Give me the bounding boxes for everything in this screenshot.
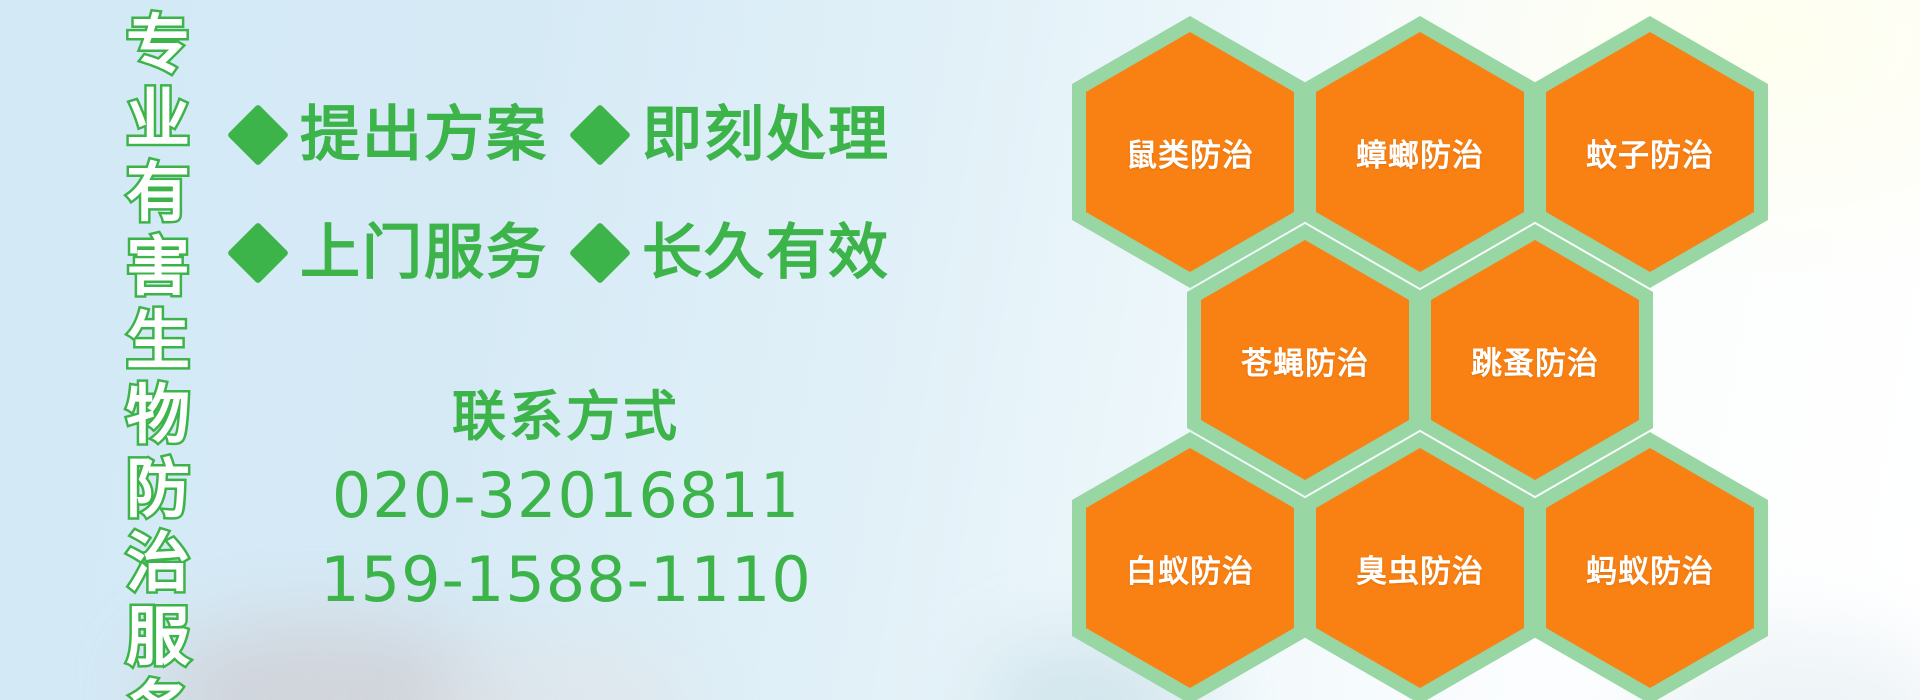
service-hex-face: 蚂蚁防治 <box>1546 448 1754 688</box>
feature-item-label: 即刻处理 <box>642 76 890 194</box>
service-hex-label: 蚂蚁防治 <box>1586 546 1714 591</box>
service-hex-label: 蚊子防治 <box>1586 130 1714 175</box>
service-hex-face: 白蚁防治 <box>1086 448 1294 688</box>
vertical-headline-char: 务 <box>126 674 190 700</box>
service-hex-label: 蟑螂防治 <box>1356 130 1484 175</box>
vertical-headline-char: 专 <box>126 8 190 82</box>
vertical-headline-char: 业 <box>126 82 190 156</box>
service-hex-face: 蟑螂防治 <box>1316 32 1524 272</box>
diamond-icon <box>227 104 289 166</box>
service-hex-label: 苍蝇防治 <box>1241 338 1369 383</box>
feature-item-label: 长久有效 <box>642 194 890 312</box>
vertical-headline-char: 物 <box>126 378 190 452</box>
service-hex-face: 苍蝇防治 <box>1201 240 1409 480</box>
service-hex-label: 臭虫防治 <box>1356 546 1484 591</box>
vertical-headline-char: 防 <box>126 452 190 526</box>
service-hex-grid: 鼠类防治 蟑螂防治 蚊子防治 苍蝇防治 跳蚤防治 白蚁防治 <box>1060 0 1920 700</box>
service-hex-face: 鼠类防治 <box>1086 32 1294 272</box>
service-hex-face: 蚊子防治 <box>1546 32 1754 272</box>
diamond-icon <box>227 222 289 284</box>
service-hex-face: 跳蚤防治 <box>1431 240 1639 480</box>
diamond-icon <box>569 222 631 284</box>
service-hex-label: 跳蚤防治 <box>1471 338 1599 383</box>
vertical-headline: 专 业 有 害 生 物 防 治 服 务 <box>110 8 206 692</box>
feature-row: 上门服务 长久有效 <box>236 194 876 312</box>
contact-phone-mobile[interactable]: 159-1588-1110 <box>236 538 896 622</box>
feature-item-label: 提出方案 <box>300 76 548 194</box>
vertical-headline-char: 生 <box>126 304 190 378</box>
vertical-headline-char: 服 <box>126 600 190 674</box>
service-hex-face: 臭虫防治 <box>1316 448 1524 688</box>
feature-list: 提出方案 即刻处理 上门服务 长久有效 <box>236 76 876 312</box>
contact-phone-landline[interactable]: 020-32016811 <box>236 454 896 538</box>
service-hex-label: 白蚁防治 <box>1126 546 1254 591</box>
background-blur-blob <box>430 640 690 700</box>
feature-row: 提出方案 即刻处理 <box>236 76 876 194</box>
service-hex-label: 鼠类防治 <box>1126 130 1254 175</box>
feature-item-label: 上门服务 <box>300 194 548 312</box>
vertical-headline-char: 有 <box>126 156 190 230</box>
pest-control-banner: 专 业 有 害 生 物 防 治 服 务 提出方案 即刻处理 上门服务 长久有效 … <box>0 0 1920 700</box>
vertical-headline-char: 治 <box>126 526 190 600</box>
diamond-icon <box>569 104 631 166</box>
vertical-headline-char: 害 <box>126 230 190 304</box>
contact-block: 联系方式 020-32016811 159-1588-1110 <box>236 380 896 622</box>
contact-title: 联系方式 <box>236 380 896 454</box>
